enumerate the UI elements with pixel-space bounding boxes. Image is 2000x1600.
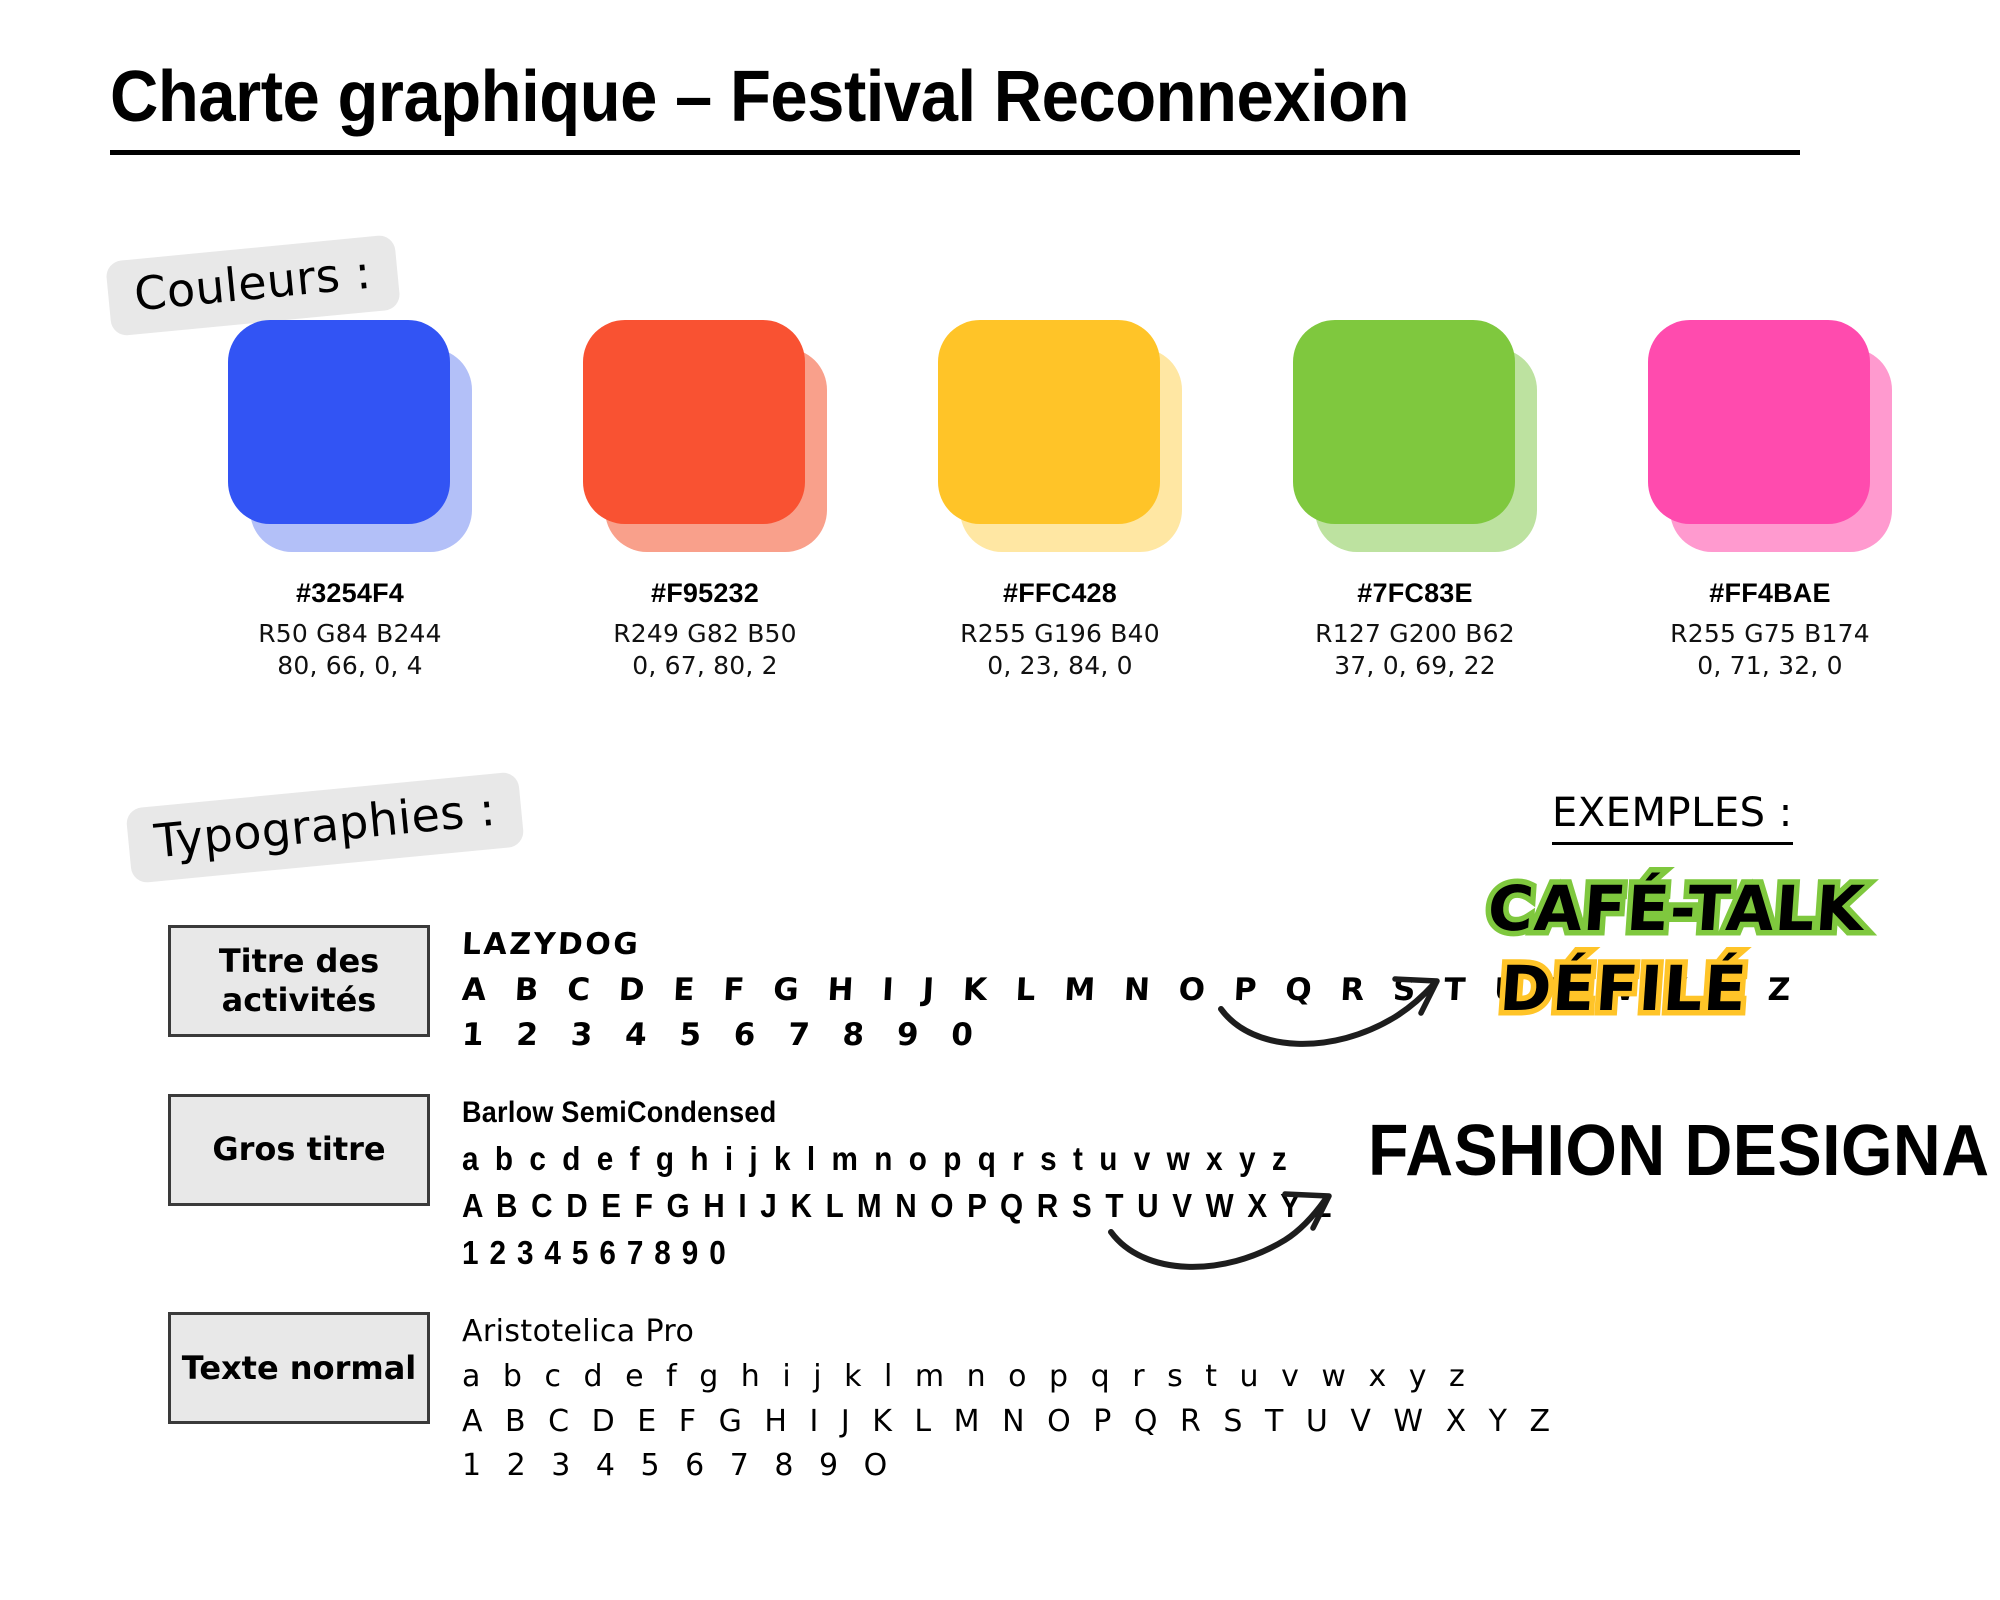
typography-usage-label: Gros titre <box>204 1124 393 1175</box>
typography-lowercase-line: a b c d e f g h i j k l m n o p q r s t … <box>462 1136 1334 1183</box>
typography-row: Texte normal Aristotelica Pro a b c d e … <box>168 1312 1799 1488</box>
color-hex-label: #FFC428 <box>1003 578 1117 609</box>
color-cmyk-label: 0, 71, 32, 0 <box>1697 650 1843 682</box>
color-swatch-chip <box>1293 320 1515 524</box>
title-underline-rule <box>110 150 1800 155</box>
section-tag-typographies: Typographies : <box>125 771 525 883</box>
color-swatch-item[interactable]: #FF4BAE R255 G75 B174 0, 71, 32, 0 <box>1620 320 1920 682</box>
example-word-defile: DÉFILÉ <box>1497 952 1749 1025</box>
curved-arrow-icon <box>1105 1178 1365 1288</box>
typography-usage-label: Titre des activités <box>171 936 427 1026</box>
color-hex-label: #3254F4 <box>296 578 404 609</box>
curved-arrow-icon <box>1215 955 1475 1065</box>
typography-specimen: Aristotelica Pro a b c d e f g h i j k l… <box>462 1312 1557 1488</box>
typography-usage-box: Titre des activités <box>168 925 430 1037</box>
color-swatch-visual <box>1293 320 1537 552</box>
color-swatch-visual <box>1648 320 1892 552</box>
color-swatch-item[interactable]: #7FC83E R127 G200 B62 37, 0, 69, 22 <box>1265 320 1565 682</box>
color-rgb-label: R50 G84 B244 <box>258 618 442 650</box>
section-tag-couleurs-label: Couleurs : <box>132 245 374 322</box>
color-swatch-visual <box>583 320 827 552</box>
typography-font-name: Aristotelica Pro <box>462 1314 1557 1349</box>
color-swatch-item[interactable]: #3254F4 R50 G84 B244 80, 66, 0, 4 <box>200 320 500 682</box>
examples-heading: EXEMPLES : <box>1552 790 1793 845</box>
color-rgb-label: R127 G200 B62 <box>1315 618 1515 650</box>
color-palette-row: #3254F4 R50 G84 B244 80, 66, 0, 4 #F9523… <box>200 320 1920 682</box>
typography-uppercase-line: A B C D E F G H I J K L M N O P Q R S T … <box>462 1400 1557 1444</box>
color-rgb-label: R255 G75 B174 <box>1670 618 1870 650</box>
color-hex-label: #F95232 <box>651 578 759 609</box>
color-cmyk-label: 0, 67, 80, 2 <box>632 650 778 682</box>
color-hex-label: #FF4BAE <box>1709 578 1830 609</box>
color-swatch-item[interactable]: #FFC428 R255 G196 B40 0, 23, 84, 0 <box>910 320 1210 682</box>
color-swatch-chip <box>1648 320 1870 524</box>
typography-digits-line: 1 2 3 4 5 6 7 8 9 O <box>462 1444 1557 1488</box>
color-swatch-chip <box>228 320 450 524</box>
color-swatch-chip <box>938 320 1160 524</box>
color-cmyk-label: 0, 23, 84, 0 <box>987 650 1133 682</box>
color-swatch-visual <box>938 320 1182 552</box>
typography-usage-box: Texte normal <box>168 1312 430 1424</box>
typography-lowercase-line: a b c d e f g h i j k l m n o p q r s t … <box>462 1355 1557 1399</box>
example-word-fashion-designa: FASHION DESIGNA <box>1368 1110 1990 1192</box>
color-swatch-item[interactable]: #F95232 R249 G82 B50 0, 67, 80, 2 <box>555 320 855 682</box>
page-title: Charte graphique – Festival Reconnexion <box>110 60 1775 136</box>
color-rgb-label: R255 G196 B40 <box>960 618 1160 650</box>
typography-font-name: Barlow SemiCondensed <box>462 1096 1334 1130</box>
section-tag-typographies-label: Typographies : <box>152 782 498 869</box>
color-rgb-label: R249 G82 B50 <box>613 618 797 650</box>
color-swatch-chip <box>583 320 805 524</box>
typography-usage-box: Gros titre <box>168 1094 430 1206</box>
color-swatch-visual <box>228 320 472 552</box>
page-header: Charte graphique – Festival Reconnexion <box>110 60 1900 155</box>
example-word-cafe-talk: CAFÉ-TALK <box>1485 872 1867 945</box>
color-cmyk-label: 80, 66, 0, 4 <box>277 650 423 682</box>
typography-usage-label: Texte normal <box>174 1343 425 1394</box>
color-cmyk-label: 37, 0, 69, 22 <box>1334 650 1496 682</box>
color-hex-label: #7FC83E <box>1357 578 1472 609</box>
